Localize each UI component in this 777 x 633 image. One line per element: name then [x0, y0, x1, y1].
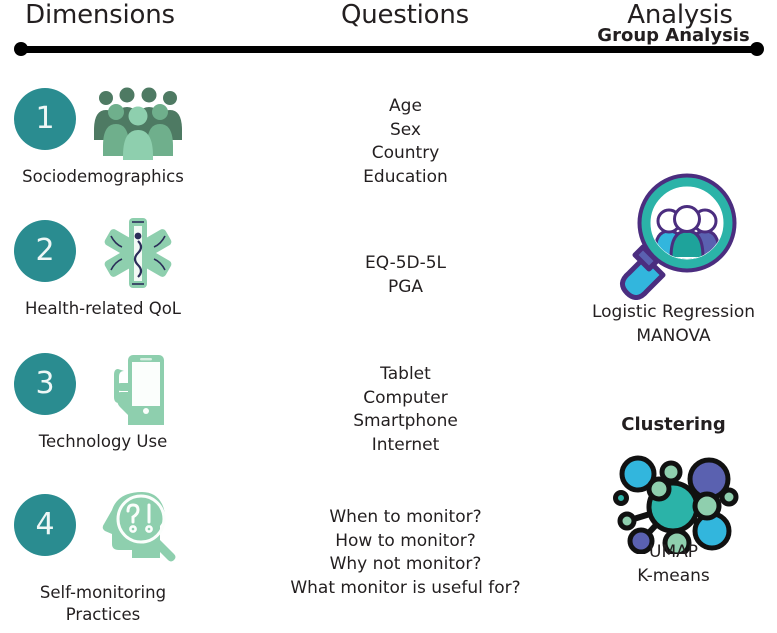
- group-analysis-title: Group Analysis: [570, 25, 777, 46]
- question-item: What monitor is useful for?: [258, 577, 553, 601]
- magnifier-with-people-icon: [570, 165, 777, 304]
- method-item: Logistic Regression: [570, 300, 777, 324]
- question-item: Internet: [258, 434, 553, 458]
- head-with-magnifier-icon: [88, 486, 188, 564]
- question-item: When to monitor?: [258, 506, 553, 530]
- clustering-block: Clustering: [570, 414, 777, 558]
- question-item: Age: [258, 95, 553, 119]
- question-item: How to monitor?: [258, 530, 553, 554]
- header-dimensions: Dimensions: [0, 0, 200, 30]
- dimension-cell: 4 Self-monitoring Practices: [0, 478, 210, 633]
- question-item: Country: [258, 142, 553, 166]
- magnifier-with-people-graphic: [570, 165, 777, 304]
- dimension-label: Self-monitoring Practices: [0, 582, 206, 626]
- dimension-cell: 1: [0, 80, 210, 210]
- step-number-badge: 3: [14, 353, 76, 415]
- dimension-label: Technology Use: [0, 431, 206, 453]
- questions-cell: Tablet Computer Smartphone Internet: [258, 363, 553, 457]
- dimension-cell: 3 Technology Use: [0, 345, 210, 475]
- method-item: K-means: [570, 564, 777, 588]
- group-analysis-title-block: Group Analysis: [570, 25, 777, 46]
- questions-cell: EQ-5D-5L PGA: [258, 252, 553, 299]
- question-item: Why not monitor?: [258, 553, 553, 577]
- dimension-label: Health-related QoL: [0, 298, 206, 320]
- question-item: Education: [258, 166, 553, 190]
- dimension-label-line1: Self-monitoring: [0, 582, 206, 604]
- hand-holding-smartphone-icon: [88, 347, 188, 425]
- question-item: PGA: [258, 276, 553, 300]
- question-item: Smartphone: [258, 410, 553, 434]
- group-of-people-icon: [88, 82, 188, 160]
- dimension-cell: 2 Health-r: [0, 212, 210, 342]
- step-number-badge: 1: [14, 88, 76, 150]
- question-item: Tablet: [258, 363, 553, 387]
- header-questions: Questions: [300, 0, 510, 30]
- group-analysis-methods: Logistic Regression MANOVA: [570, 300, 777, 348]
- method-item: UMAP: [570, 540, 777, 564]
- timeline-bar: [20, 46, 758, 53]
- questions-cell: When to monitor? How to monitor? Why not…: [258, 506, 553, 600]
- dimension-label: Sociodemographics: [0, 166, 206, 188]
- step-number-badge: 4: [14, 494, 76, 556]
- question-item: Sex: [258, 119, 553, 143]
- method-item: MANOVA: [570, 324, 777, 348]
- star-of-life-icon: [88, 214, 188, 292]
- step-number-badge: 2: [14, 220, 76, 282]
- clustering-methods: UMAP K-means: [570, 540, 777, 588]
- question-item: EQ-5D-5L: [258, 252, 553, 276]
- clustering-title: Clustering: [570, 414, 777, 435]
- question-item: Computer: [258, 387, 553, 411]
- dimension-label-line2: Practices: [0, 604, 206, 626]
- questions-cell: Age Sex Country Education: [258, 95, 553, 189]
